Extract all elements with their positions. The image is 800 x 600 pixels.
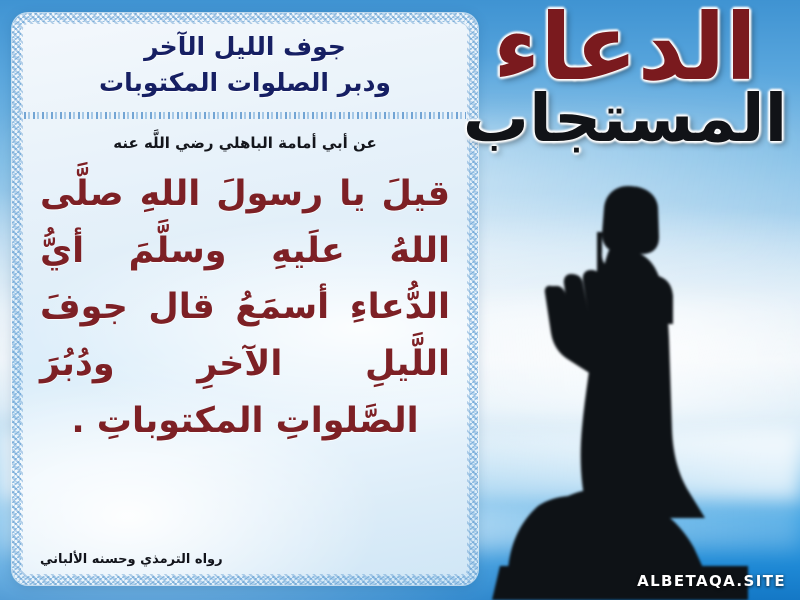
card-header: جوف الليل الآخر ودبر الصلوات المكتوبات xyxy=(34,13,456,110)
site-watermark: ALBETAQA.SITE xyxy=(637,572,786,590)
headline-line-2: المستجاب xyxy=(460,86,790,152)
headline-line-1: الدعاء xyxy=(460,4,790,92)
card-header-line-2: ودبر الصلوات المكتوبات xyxy=(34,65,456,101)
hadith-source: رواه الترمذي وحسنه الألباني xyxy=(34,552,456,585)
card-header-line-1: جوف الليل الآخر xyxy=(34,29,456,65)
content-card: جوف الليل الآخر ودبر الصلوات المكتوبات ع… xyxy=(12,13,478,585)
poster-headline: الدعاء المستجاب xyxy=(460,4,790,152)
header-divider xyxy=(24,112,466,119)
narrator-attribution: عن أبي أمامة الباهلي رضي اللَّه عنه xyxy=(34,134,456,152)
hadith-text: قيلَ يا رسولَ اللهِ صلَّى اللهُ علَيهِ و… xyxy=(40,166,450,449)
praying-person-silhouette xyxy=(478,170,778,600)
hadith-body: قيلَ يا رسولَ اللهِ صلَّى اللهُ علَيهِ و… xyxy=(34,152,456,552)
poster-stage: الدعاء المستجاب ALBETAQA.SITE جوف الليل … xyxy=(0,0,800,600)
